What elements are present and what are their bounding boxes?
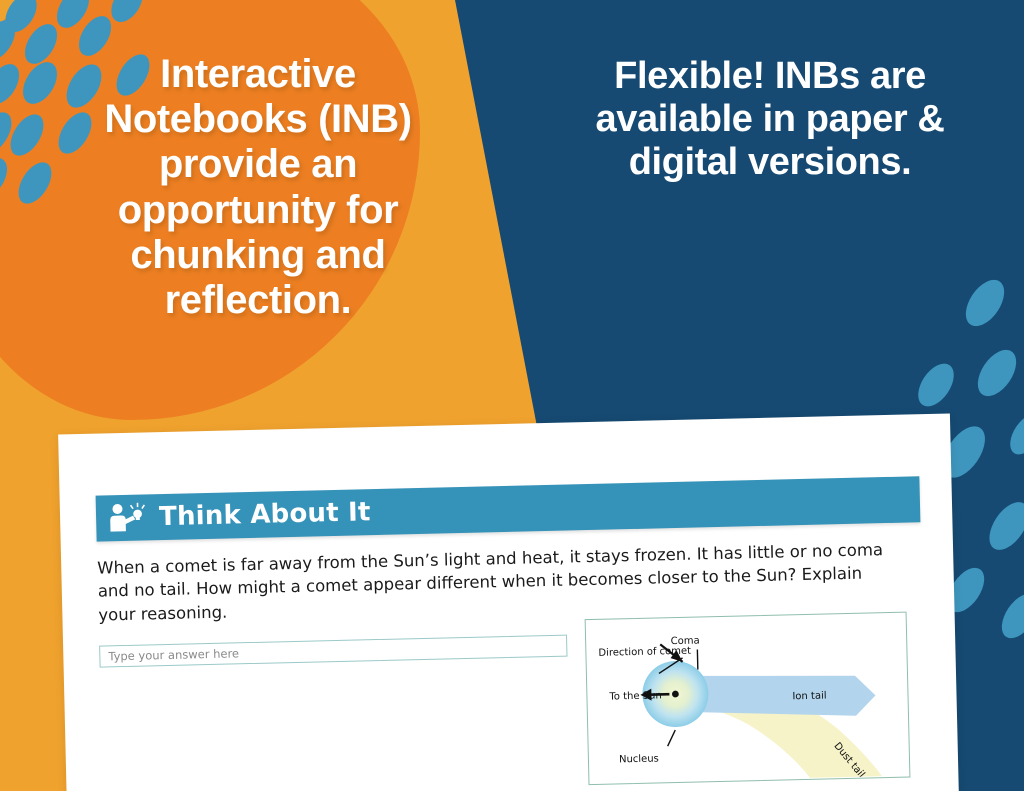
answer-and-diagram-row: Coma Direction of comet To the Sun Nucle… [99,626,926,791]
decor-dot [16,56,64,110]
headline-left: Interactive Notebooks (INB) provide an o… [60,52,456,323]
comet-diagram: Coma Direction of comet To the Sun Nucle… [585,612,911,786]
decor-dot [970,343,1024,403]
label-direction: Direction of comet [598,646,691,659]
decor-dot [105,0,149,28]
decor-dot [0,58,26,109]
decor-dot [0,152,14,203]
worksheet-card: Think About It When a comet is far away … [58,413,959,791]
decor-dot [994,587,1024,644]
label-to-the-sun: To the Sun [608,691,662,703]
decor-dot [958,273,1012,333]
decor-dot [981,495,1024,557]
label-ion-tail: Ion tail [792,691,826,703]
worksheet-content: Think About It When a comet is far away … [58,413,959,791]
headline-right: Flexible! INBs are available in paper & … [560,55,980,184]
decor-dot [1003,408,1024,461]
comet-diagram-svg: Coma Direction of comet To the Sun Nucle… [586,613,909,783]
label-nucleus: Nucleus [619,754,659,766]
answer-input[interactable] [99,635,567,668]
think-about-it-title: Think About It [159,497,371,532]
think-about-it-header: Think About It [96,476,921,541]
ion-tail-shape [683,672,876,721]
slide-canvas: Interactive Notebooks (INB) provide an o… [0,0,1024,791]
question-text: When a comet is far away from the Sun’s … [97,538,898,627]
decor-dot [12,157,58,210]
person-with-idea-icon [108,500,149,535]
